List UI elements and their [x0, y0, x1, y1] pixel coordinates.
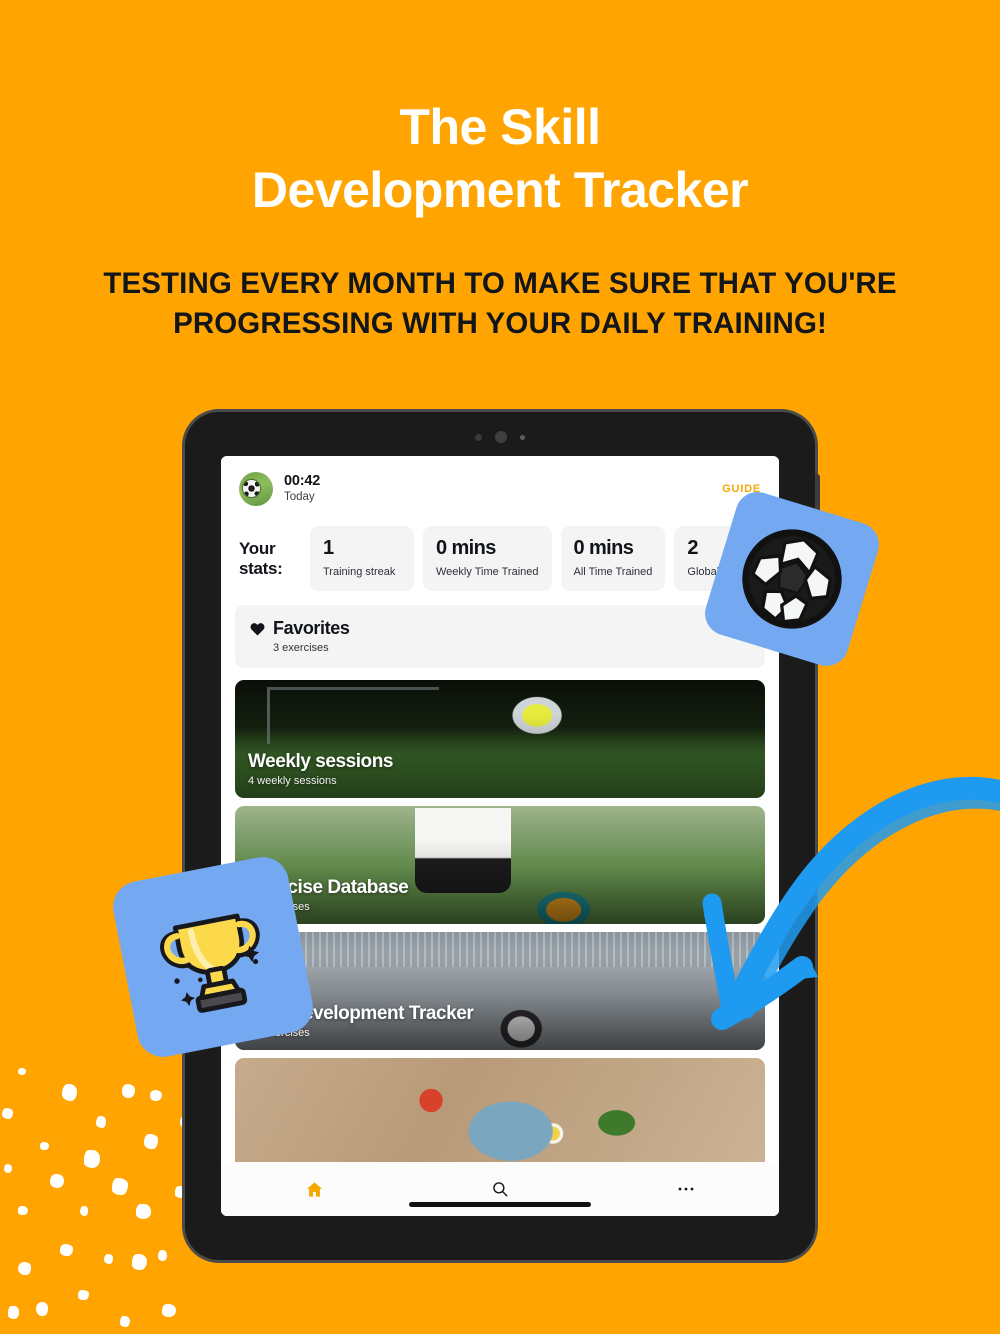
white-dot	[162, 1304, 176, 1317]
white-dot	[132, 1254, 147, 1270]
headline-line-1: The Skill	[0, 96, 1000, 159]
card-skill-development-tracker[interactable]: Skill Development Tracker 61 exercises	[235, 932, 765, 1050]
tablet-device-mockup: 00:42 Today GUIDE Your stats: 1 Training…	[185, 412, 815, 1260]
white-dot	[2, 1108, 13, 1119]
camera-lens-icon	[495, 431, 507, 443]
card-nutrition[interactable]	[235, 1058, 765, 1162]
nav-item-search[interactable]	[407, 1162, 593, 1216]
trophy-badge	[109, 853, 318, 1062]
subheadline-line-1: TESTING EVERY MONTH TO MAKE SURE THAT YO…	[62, 264, 938, 304]
white-dot	[60, 1244, 73, 1256]
white-dot	[150, 1090, 162, 1101]
favorites-title-line: Favorites	[250, 618, 750, 639]
app-header: 00:42 Today GUIDE	[221, 456, 779, 522]
soccer-ball-icon	[725, 512, 860, 647]
heart-icon	[250, 622, 265, 636]
card-text-block: Weekly sessions 4 weekly sessions	[248, 751, 393, 787]
trophy-icon	[139, 883, 287, 1031]
white-dot	[122, 1084, 135, 1098]
home-indicator[interactable]	[409, 1202, 591, 1207]
front-camera-cluster	[185, 430, 815, 444]
header-text-block: 00:42 Today	[284, 473, 320, 505]
stat-caption: All Time Trained	[574, 566, 653, 578]
card-subtitle: 4 weekly sessions	[248, 775, 393, 787]
card-title: Weekly sessions	[248, 751, 393, 773]
training-day-label: Today	[284, 491, 320, 505]
home-icon	[305, 1180, 324, 1199]
white-dot	[78, 1290, 89, 1300]
promo-heading-block: The Skill Development Tracker TESTING EV…	[0, 96, 1000, 344]
white-dot	[158, 1250, 167, 1261]
stat-card-training-streak[interactable]: 1 Training streak	[310, 526, 414, 591]
white-dot	[18, 1206, 28, 1215]
card-exercise-database[interactable]: Exercise Database 45 exercises	[235, 806, 765, 924]
white-dot	[36, 1302, 48, 1316]
card-image	[235, 1058, 765, 1162]
card-weekly-sessions[interactable]: Weekly sessions 4 weekly sessions	[235, 680, 765, 798]
training-time: 00:42	[284, 473, 320, 490]
white-dot	[8, 1306, 19, 1319]
stat-value: 0 mins	[436, 538, 539, 559]
subheadline: TESTING EVERY MONTH TO MAKE SURE THAT YO…	[0, 264, 1000, 344]
headline-line-2: Development Tracker	[0, 159, 1000, 222]
white-dot	[112, 1178, 128, 1195]
bottom-nav-bar	[221, 1162, 779, 1216]
stats-label: Your stats:	[239, 539, 301, 578]
stats-row: Your stats: 1 Training streak 0 mins Wee…	[221, 522, 779, 605]
favorites-subtitle: 3 exercises	[273, 642, 750, 654]
white-dot	[144, 1134, 158, 1149]
favorites-row[interactable]: Favorites 3 exercises	[235, 605, 765, 668]
white-dot	[18, 1068, 26, 1075]
white-dot	[50, 1174, 64, 1188]
nav-item-home[interactable]	[221, 1162, 407, 1216]
stat-card-all-time-trained[interactable]: 0 mins All Time Trained	[561, 526, 666, 591]
white-dot	[96, 1116, 106, 1128]
subheadline-line-2: PROGRESSING WITH YOUR DAILY TRAINING!	[62, 304, 938, 344]
stat-caption: Training streak	[323, 566, 401, 578]
favorites-title: Favorites	[273, 618, 349, 639]
indicator-dot	[520, 435, 525, 440]
white-dot	[4, 1164, 12, 1173]
stat-value: 1	[323, 538, 401, 559]
white-dot	[84, 1150, 100, 1168]
white-dot	[136, 1204, 151, 1219]
stat-caption: Weekly Time Trained	[436, 566, 539, 578]
stat-value: 0 mins	[574, 538, 653, 559]
search-icon	[491, 1180, 509, 1198]
app-screen: 00:42 Today GUIDE Your stats: 1 Training…	[221, 456, 779, 1216]
stat-card-weekly-time-trained[interactable]: 0 mins Weekly Time Trained	[423, 526, 552, 591]
white-dot	[40, 1142, 49, 1150]
white-dot	[120, 1316, 130, 1327]
white-dot	[62, 1084, 77, 1101]
white-dot	[104, 1254, 113, 1264]
white-dot	[80, 1206, 88, 1216]
sensor-dot	[475, 434, 482, 441]
avatar[interactable]	[239, 472, 273, 506]
nav-item-more[interactable]	[593, 1162, 779, 1216]
content-card-list: Weekly sessions 4 weekly sessions Exerci…	[221, 668, 779, 1162]
more-icon	[677, 1186, 695, 1192]
white-dot	[18, 1262, 31, 1275]
